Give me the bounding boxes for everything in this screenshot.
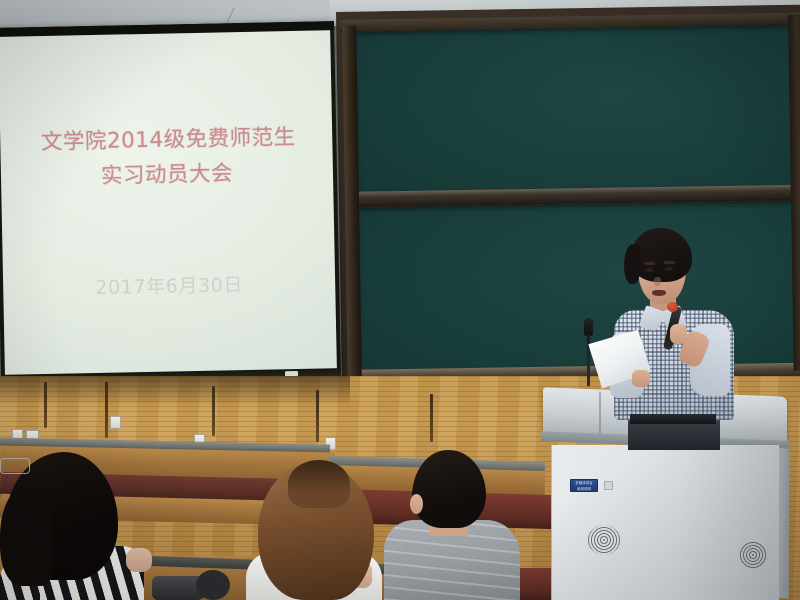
projection-screen-surface: 文学院2014级免费师范生 实习动员大会 2017年6月30日 <box>0 28 337 377</box>
speaker-hair-side <box>624 244 640 284</box>
speaker-presenter <box>608 228 738 418</box>
podium-label-line2: 使用说明 <box>571 486 597 492</box>
desk-object-ring <box>196 570 230 600</box>
hanging-cable <box>212 386 215 436</box>
podium-front-panel: 多媒体讲台 使用说明 <box>551 445 779 600</box>
wall-switch-plate[interactable] <box>110 416 121 429</box>
speaker-brow-left <box>644 262 655 265</box>
podium-info-label: 多媒体讲台 使用说明 <box>570 479 598 492</box>
projection-screen: 文学院2014级免费师范生 实习动员大会 2017年6月30日 <box>0 21 341 386</box>
eyeglasses-icon <box>0 458 30 474</box>
speaker-belt <box>630 414 716 424</box>
speaker-grille-left-icon <box>588 525 620 555</box>
hanging-cable <box>44 382 47 428</box>
hanging-cable <box>430 394 433 442</box>
speaker-hand-holding-mic <box>670 324 687 344</box>
lecture-hall-photo: 文学院2014级免费师范生 实习动员大会 2017年6月30日 <box>0 0 800 600</box>
slide-title-line2: 实习动员大会 <box>1 155 334 196</box>
striped-top-hair-side <box>0 486 52 586</box>
microphone-stand-rod <box>587 334 590 386</box>
speaker-eye-right <box>665 267 673 271</box>
speaker-grille-right-icon <box>738 541 768 569</box>
slide-title-line1: 文学院2014级免费师范生 <box>0 120 333 161</box>
chalkboard-upper-panel <box>354 25 800 194</box>
white-top-hair-parting <box>288 460 350 508</box>
striped-top-hand <box>126 548 152 572</box>
slide-date: 2017年6月30日 <box>3 268 335 302</box>
gray-tshirt-ear <box>410 494 423 514</box>
speaker-trousers <box>628 420 720 450</box>
speaker-hand-holding-paper <box>632 370 650 387</box>
speaker-brow-right <box>664 261 675 264</box>
hanging-cable <box>316 390 319 442</box>
slide-title-block: 文学院2014级免费师范生 实习动员大会 <box>0 120 333 196</box>
wall-shadow-band <box>0 376 350 406</box>
speaker-mouth <box>652 290 666 296</box>
speaker-eye-left <box>645 268 653 272</box>
podium-surface-seam <box>599 391 601 435</box>
speaker-nose <box>654 277 661 286</box>
podium-keyhole-plate[interactable] <box>604 481 613 490</box>
hanging-cable <box>105 382 108 438</box>
